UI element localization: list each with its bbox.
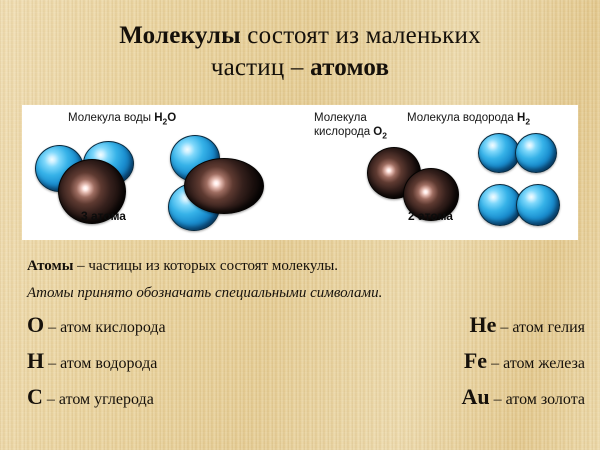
element-dash: –	[496, 319, 512, 336]
element-row-oxygen: O – атом кислорода	[27, 312, 166, 338]
definition-text: – частицы из которых состоят молекулы.	[73, 258, 338, 274]
count-water-atoms: 3 атома	[81, 209, 126, 223]
formula-h2-sub: 2	[525, 116, 530, 126]
definition-line: Атомы – частицы из которых состоят молек…	[27, 258, 338, 275]
element-dash: –	[487, 355, 503, 372]
formula-o2-o: O	[373, 126, 382, 138]
element-symbol-fe: Fe	[464, 348, 487, 373]
element-row-carbon: C – атом углерода	[27, 384, 154, 410]
element-dash: –	[490, 391, 506, 408]
formula-o2: O2	[373, 126, 387, 138]
definition-bold-atoms: Атомы	[27, 258, 73, 274]
atom-hydrogen-sphere	[515, 133, 557, 173]
label-water-molecule: Молекула воды H2O	[68, 111, 176, 128]
element-dash: –	[43, 391, 59, 408]
element-symbol-he: He	[469, 312, 496, 337]
title-text-1: состоят из маленьких	[241, 22, 481, 49]
element-row-gold: Au – атом золота	[300, 384, 585, 410]
formula-h2: H2	[517, 112, 530, 124]
label-oxygen-line-2: кислорода O2	[314, 125, 387, 142]
element-name-iron: атом железа	[503, 355, 585, 372]
label-water-text: Молекула воды	[68, 112, 154, 124]
label-oxygen-molecule: Молекула кислорода O2	[314, 111, 387, 142]
label-hydrogen-text: Молекула водорода	[407, 112, 517, 124]
element-symbol-au: Au	[462, 384, 490, 409]
element-name-helium: атом гелия	[512, 319, 585, 336]
count-oxygen-atoms: 2 атома	[408, 209, 453, 223]
illustration-panel: Молекула воды H2O Молекула кислорода O2 …	[22, 105, 578, 240]
formula-o2-sub: 2	[382, 130, 387, 140]
title-bold-atoms: атомов	[310, 54, 389, 81]
title-line-1: Молекулы состоят из маленьких	[0, 20, 600, 52]
element-row-helium: He – атом гелия	[300, 312, 585, 338]
label-oxygen-text: кислорода	[314, 126, 373, 138]
formula-h2o-o: O	[167, 112, 176, 124]
notation-line: Атомы принято обозначать специальными си…	[27, 285, 382, 302]
formula-h2o-h: H	[154, 112, 162, 124]
atom-oxygen-sphere	[184, 158, 264, 214]
element-row-iron: Fe – атом железа	[300, 348, 585, 374]
slide-root: Молекулы состоят из маленьких частиц – а…	[0, 0, 600, 450]
title-line-2: частиц – атомов	[0, 52, 600, 84]
element-dash: –	[44, 319, 60, 336]
element-symbol-h: H	[27, 348, 44, 373]
element-name-hydrogen: атом водорода	[60, 355, 157, 372]
label-hydrogen-molecule: Молекула водорода H2	[407, 111, 530, 128]
element-dash: –	[44, 355, 60, 372]
atom-hydrogen-sphere	[478, 133, 520, 173]
atom-hydrogen-sphere	[516, 184, 560, 226]
element-symbol-c: C	[27, 384, 43, 409]
title-bold-molecules: Молекулы	[119, 22, 241, 49]
title-text-2: частиц –	[211, 54, 310, 81]
element-name-oxygen: атом кислорода	[60, 319, 166, 336]
element-name-carbon: атом углерода	[59, 391, 154, 408]
element-symbol-o: O	[27, 312, 44, 337]
label-oxygen-line-1: Молекула	[314, 111, 387, 125]
element-name-gold: атом золота	[506, 391, 585, 408]
formula-h2o: H2O	[154, 112, 176, 124]
page-title: Молекулы состоят из маленьких частиц – а…	[0, 20, 600, 84]
element-row-hydrogen: H – атом водорода	[27, 348, 157, 374]
